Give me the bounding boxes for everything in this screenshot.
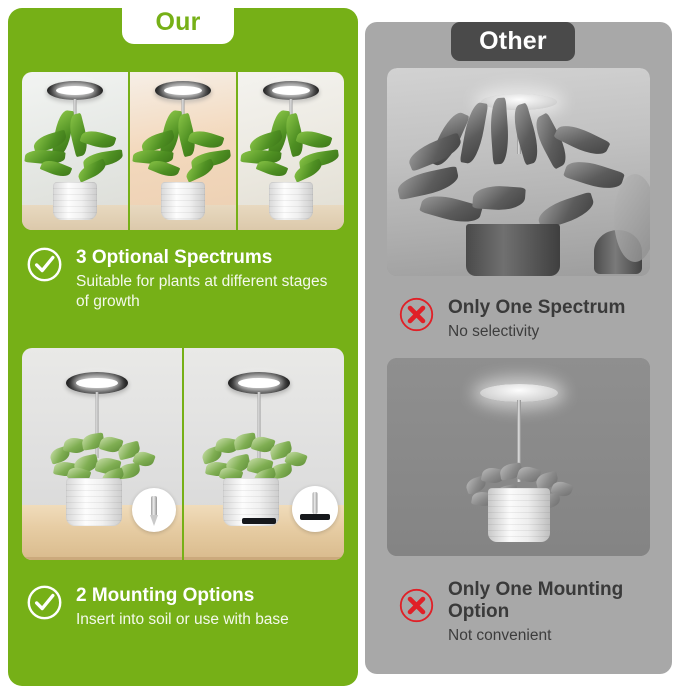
soil-stake bbox=[151, 496, 157, 516]
other-badge: Other bbox=[451, 22, 575, 61]
bushy-plant bbox=[196, 434, 312, 482]
base-plate bbox=[300, 514, 330, 520]
our-badge: Our bbox=[122, 0, 234, 44]
plant-pot bbox=[466, 224, 560, 276]
base-stand bbox=[242, 518, 276, 524]
plant-pot bbox=[488, 488, 550, 542]
stake-tip bbox=[150, 515, 158, 526]
our-feature-spectrums: 3 Optional Spectrums Suitable for plants… bbox=[26, 246, 344, 312]
ring-lamp-icon bbox=[263, 81, 319, 100]
base-pole bbox=[313, 492, 318, 514]
mounting-image-soil-stake bbox=[22, 348, 182, 560]
mounting-image-base-stand bbox=[184, 348, 344, 560]
spectrum-image-neutral bbox=[238, 72, 344, 230]
feature-subtitle: Insert into soil or use with base bbox=[76, 610, 289, 630]
check-circle-icon bbox=[26, 584, 63, 621]
plant bbox=[241, 110, 341, 192]
feature-subtitle: Suitable for plants at different stages … bbox=[76, 272, 344, 311]
check-circle-icon bbox=[26, 246, 63, 283]
feature-title: 2 Mounting Options bbox=[76, 585, 289, 607]
other-mounting-image bbox=[387, 358, 650, 556]
feature-subtitle: Not convenient bbox=[448, 626, 648, 646]
plant-pot bbox=[53, 182, 97, 220]
feature-title: 3 Optional Spectrums bbox=[76, 247, 344, 269]
x-circle-icon bbox=[398, 587, 435, 624]
base-detail-inset bbox=[292, 486, 338, 532]
plant-pot bbox=[161, 182, 205, 220]
mounting-image-group bbox=[22, 348, 344, 560]
our-feature-mounting: 2 Mounting Options Insert into soil or u… bbox=[26, 584, 344, 630]
spectrum-image-group bbox=[22, 72, 344, 230]
x-circle-icon bbox=[398, 296, 435, 333]
ring-lamp-icon bbox=[228, 372, 290, 394]
plant bbox=[25, 110, 125, 192]
feature-subtitle: No selectivity bbox=[448, 322, 625, 342]
ring-lamp-icon bbox=[155, 81, 211, 100]
ring-lamp-icon bbox=[66, 372, 128, 394]
feature-title: Only One Spectrum bbox=[448, 297, 625, 319]
plant bbox=[133, 110, 233, 192]
stake-detail-inset bbox=[132, 488, 176, 532]
spectrum-image-cool-white bbox=[22, 72, 128, 230]
other-plant-image bbox=[387, 68, 650, 276]
ring-lamp-icon bbox=[47, 81, 103, 100]
feature-title: Only One Mounting Option bbox=[448, 579, 648, 623]
plant-pot bbox=[269, 182, 313, 220]
other-feature-mounting: Only One Mounting Option Not convenient bbox=[398, 578, 660, 646]
spectrum-image-warm bbox=[130, 72, 236, 230]
other-feature-spectrum: Only One Spectrum No selectivity bbox=[398, 296, 660, 342]
decor-clock bbox=[614, 174, 650, 262]
bushy-plant bbox=[44, 434, 160, 482]
plant-pot bbox=[66, 478, 122, 526]
